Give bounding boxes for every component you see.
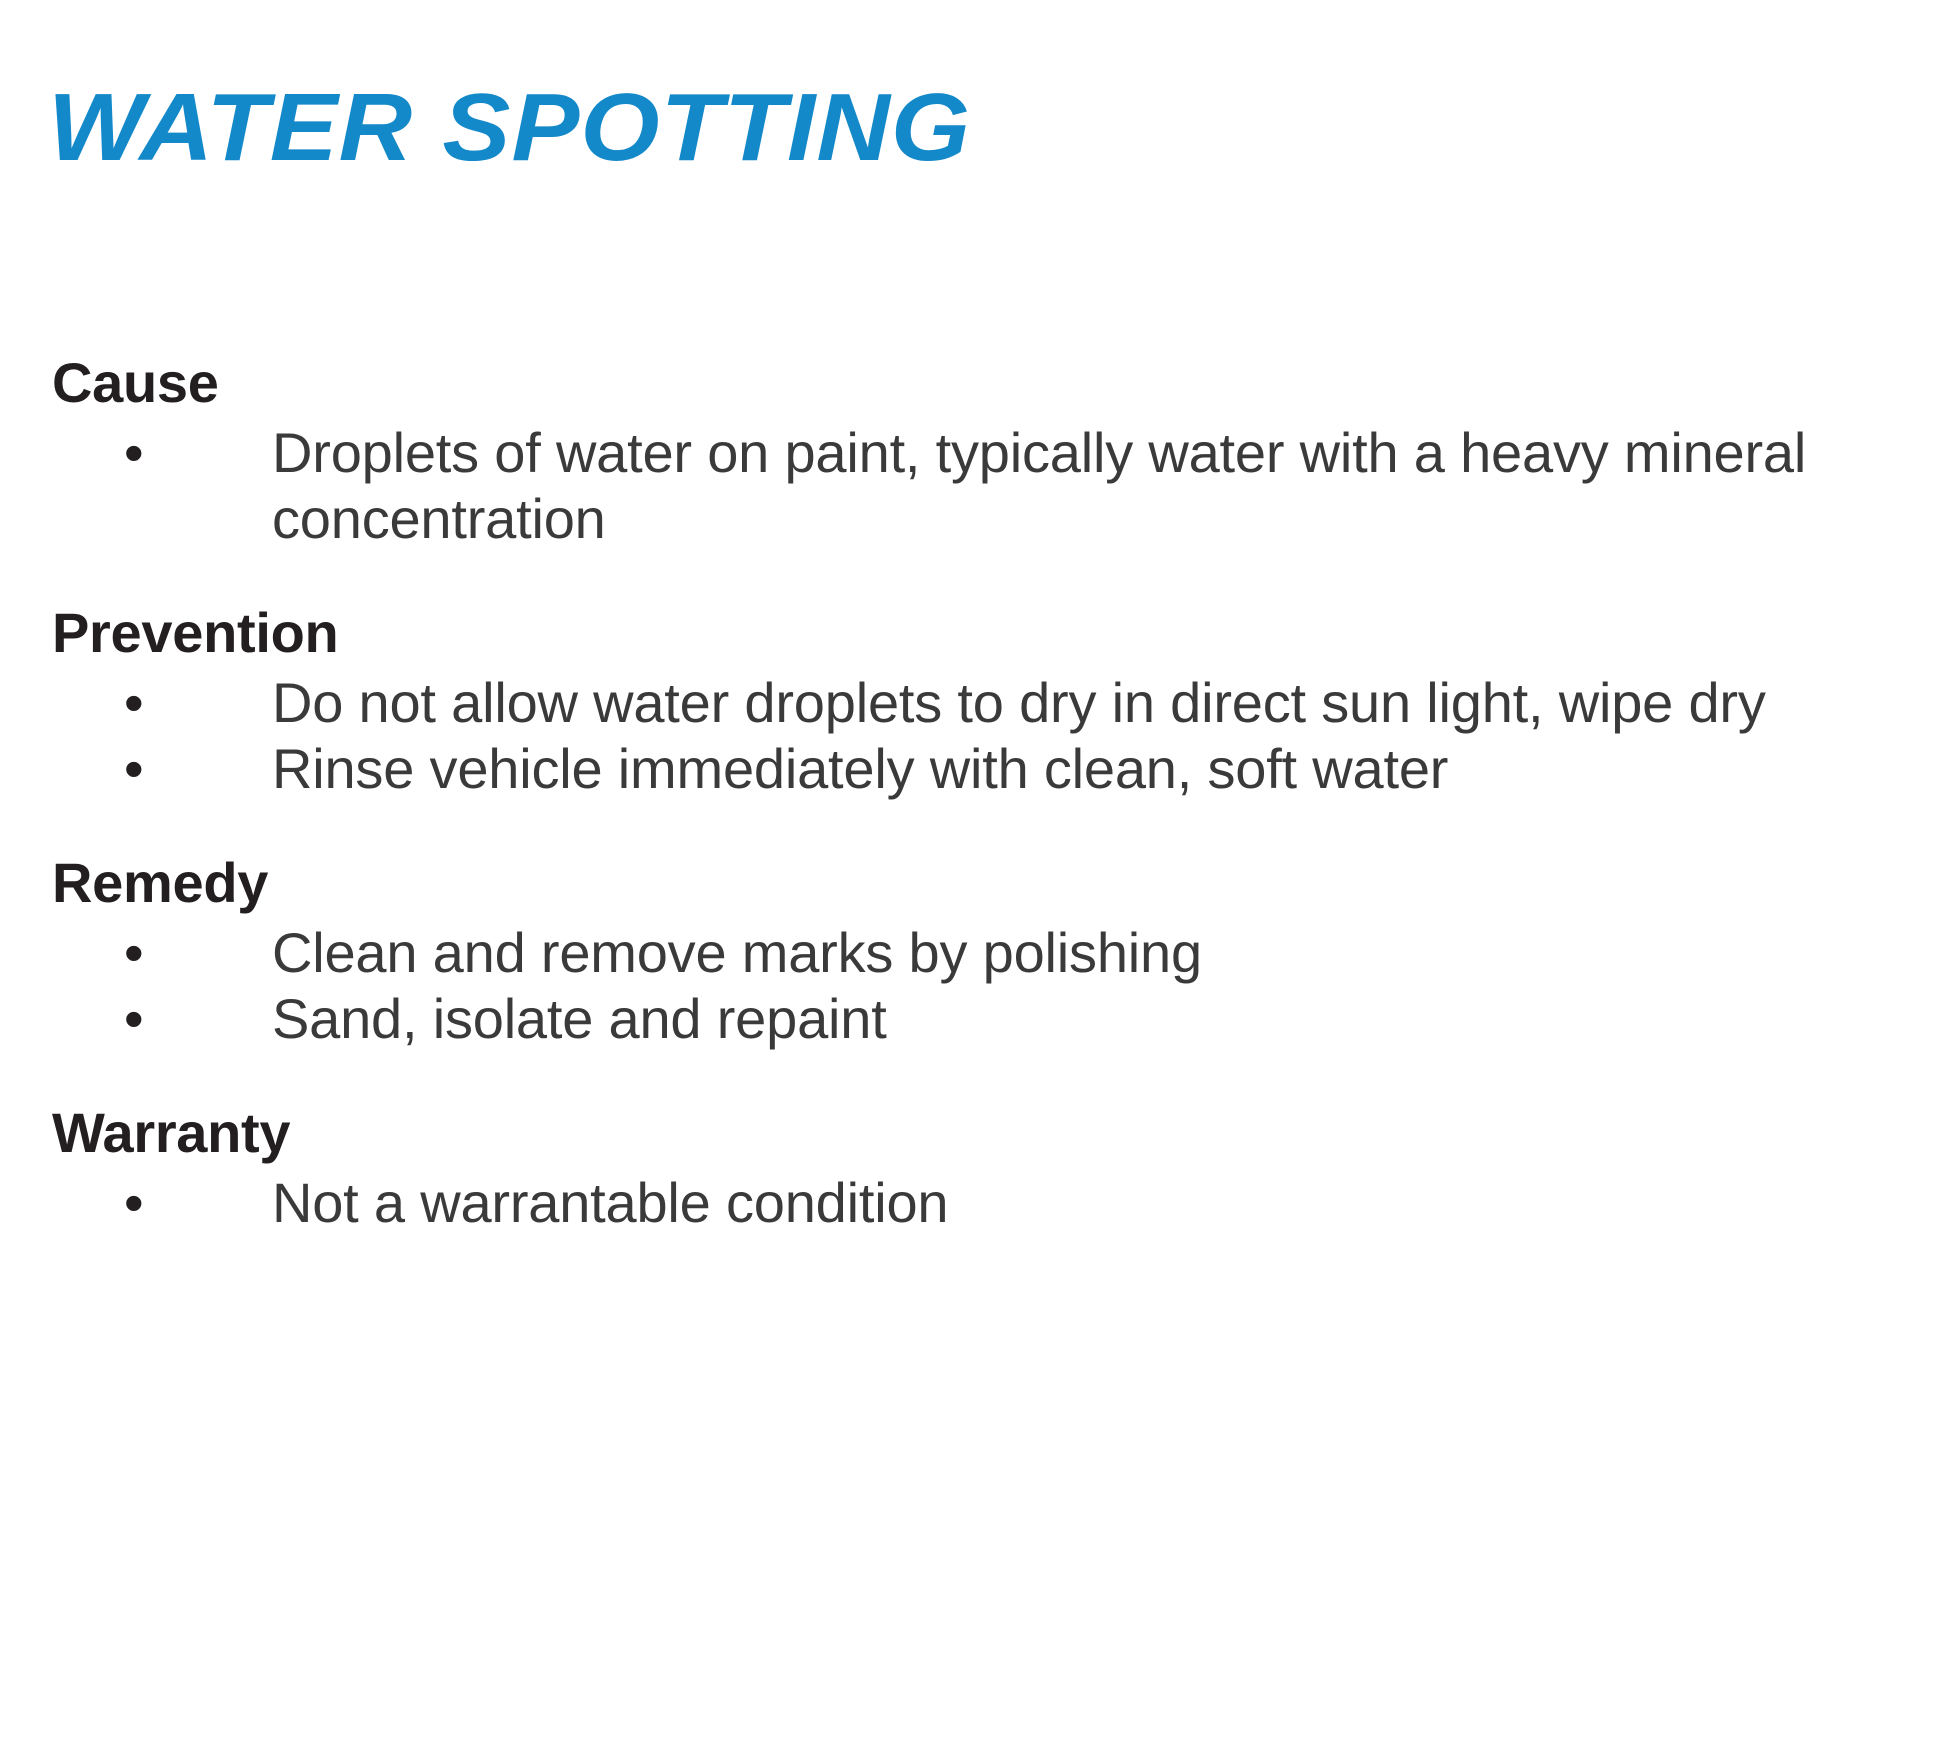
list-item: • Sand, isolate and repaint	[0, 986, 1953, 1052]
bullet-point-icon: •	[124, 736, 154, 802]
bullet-point-icon: •	[124, 670, 154, 736]
bullet-list-cause: • Droplets of water on paint, typically …	[0, 420, 1953, 552]
bullet-point-icon: •	[124, 986, 154, 1052]
section-cause: Cause • Droplets of water on paint, typi…	[0, 350, 1953, 552]
list-item: • Do not allow water droplets to dry in …	[0, 670, 1953, 736]
list-item: • Clean and remove marks by polishing	[0, 920, 1953, 986]
content-body: Cause • Droplets of water on paint, typi…	[0, 350, 1953, 1236]
section-warranty: Warranty • Not a warrantable condition	[0, 1100, 1953, 1236]
section-heading-prevention: Prevention	[0, 600, 1953, 666]
bullet-point-icon: •	[124, 1170, 154, 1236]
bullet-list-warranty: • Not a warrantable condition	[0, 1170, 1953, 1236]
section-heading-cause: Cause	[0, 350, 1953, 416]
slide-page: WATER SPOTTING Cause • Droplets of water…	[0, 0, 1953, 1737]
list-item-label: Sand, isolate and repaint	[272, 986, 1923, 1052]
list-item-label: Rinse vehicle immediately with clean, so…	[272, 736, 1923, 802]
bullet-list-prevention: • Do not allow water droplets to dry in …	[0, 670, 1953, 802]
bullet-point-icon: •	[124, 920, 154, 986]
list-item: • Rinse vehicle immediately with clean, …	[0, 736, 1953, 802]
list-item-label: Droplets of water on paint, typically wa…	[272, 420, 1923, 552]
bullet-list-remedy: • Clean and remove marks by polishing • …	[0, 920, 1953, 1052]
section-heading-remedy: Remedy	[0, 850, 1953, 916]
list-item-label: Do not allow water droplets to dry in di…	[272, 670, 1923, 736]
bullet-point-icon: •	[124, 420, 154, 486]
section-heading-warranty: Warranty	[0, 1100, 1953, 1166]
list-item: • Not a warrantable condition	[0, 1170, 1953, 1236]
section-prevention: Prevention • Do not allow water droplets…	[0, 600, 1953, 802]
section-remedy: Remedy • Clean and remove marks by polis…	[0, 850, 1953, 1052]
list-item-label: Clean and remove marks by polishing	[272, 920, 1923, 986]
page-title: WATER SPOTTING	[48, 76, 971, 180]
list-item: • Droplets of water on paint, typically …	[0, 420, 1953, 552]
list-item-label: Not a warrantable condition	[272, 1170, 1923, 1236]
